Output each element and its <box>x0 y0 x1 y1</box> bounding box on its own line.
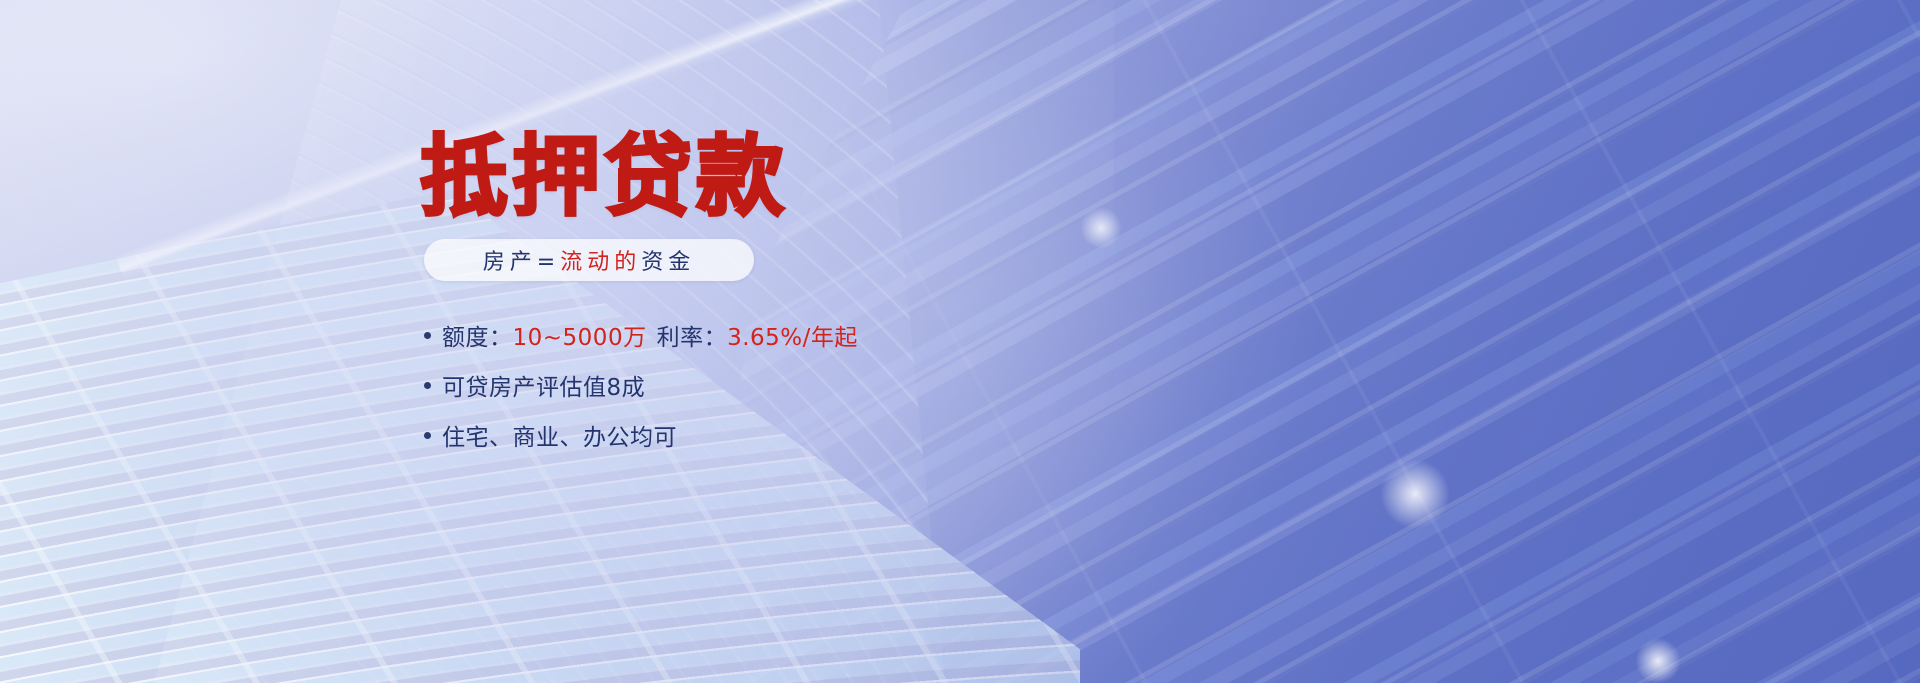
banner-content: 抵押贷款 房产=流动的资金 额度：10~5000万利率：3.65%/年起 可贷房… <box>0 0 1920 683</box>
feature-appraisal: 可贷房产评估值8成 <box>442 368 645 402</box>
bullet-dot-icon <box>424 432 431 439</box>
amount-label: 额度： <box>442 325 513 351</box>
headline-title: 抵押贷款 <box>420 133 788 221</box>
mortgage-loan-banner: 抵押贷款 房产=流动的资金 额度：10~5000万利率：3.65%/年起 可贷房… <box>0 0 1920 683</box>
list-item: 额度：10~5000万利率：3.65%/年起 <box>424 318 1064 352</box>
list-item: 可贷房产评估值8成 <box>424 368 1064 402</box>
bullet-dot-icon <box>424 332 431 339</box>
rate-label: 利率： <box>657 325 728 351</box>
rate-value: 3.65%/年起 <box>727 325 858 351</box>
bullet-dot-icon <box>424 382 431 389</box>
tagline-text: 房产=流动的资金 <box>483 244 695 276</box>
feature-list: 额度：10~5000万利率：3.65%/年起 可贷房产评估值8成 住宅、商业、办… <box>424 318 1064 468</box>
tagline-prefix: 房产= <box>483 250 560 275</box>
list-item: 住宅、商业、办公均可 <box>424 418 1064 452</box>
feature-property-types: 住宅、商业、办公均可 <box>442 418 677 452</box>
tagline-suffix: 资金 <box>641 250 695 275</box>
amount-value: 10~5000万 <box>513 325 647 351</box>
tagline-badge: 房产=流动的资金 <box>424 239 754 281</box>
tagline-emphasis: 流动的 <box>560 250 641 275</box>
feature-amount-rate: 额度：10~5000万利率：3.65%/年起 <box>442 318 858 352</box>
